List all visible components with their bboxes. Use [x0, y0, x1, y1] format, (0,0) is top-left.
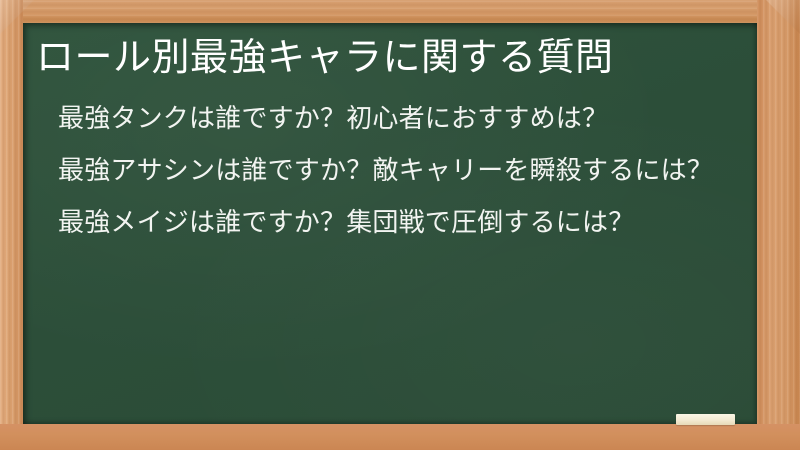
chalk-stick-icon: [676, 414, 735, 425]
board-title: ロール別最強キャラに関する質問: [36, 32, 736, 82]
list-item: 最強タンクは誰ですか？初心者におすすめは？: [58, 103, 730, 136]
frame-stile-right: [757, 0, 800, 450]
frame-stile-left: [0, 0, 23, 450]
chalkboard-surface: ロール別最強キャラに関する質問 最強タンクは誰ですか？初心者におすすめは？ 最強…: [23, 23, 757, 424]
chalkboard-frame: ロール別最強キャラに関する質問 最強タンクは誰ですか？初心者におすすめは？ 最強…: [0, 0, 800, 450]
question-list: 最強タンクは誰ですか？初心者におすすめは？ 最強アサシンは誰ですか？敵キャリーを…: [58, 103, 730, 240]
list-item: 最強メイジは誰ですか？集団戦で圧倒するには？: [58, 207, 730, 240]
list-item: 最強アサシンは誰ですか？敵キャリーを瞬殺するには？: [58, 155, 730, 188]
frame-ledge-bottom: [0, 424, 800, 450]
frame-rail-top: [0, 0, 800, 23]
